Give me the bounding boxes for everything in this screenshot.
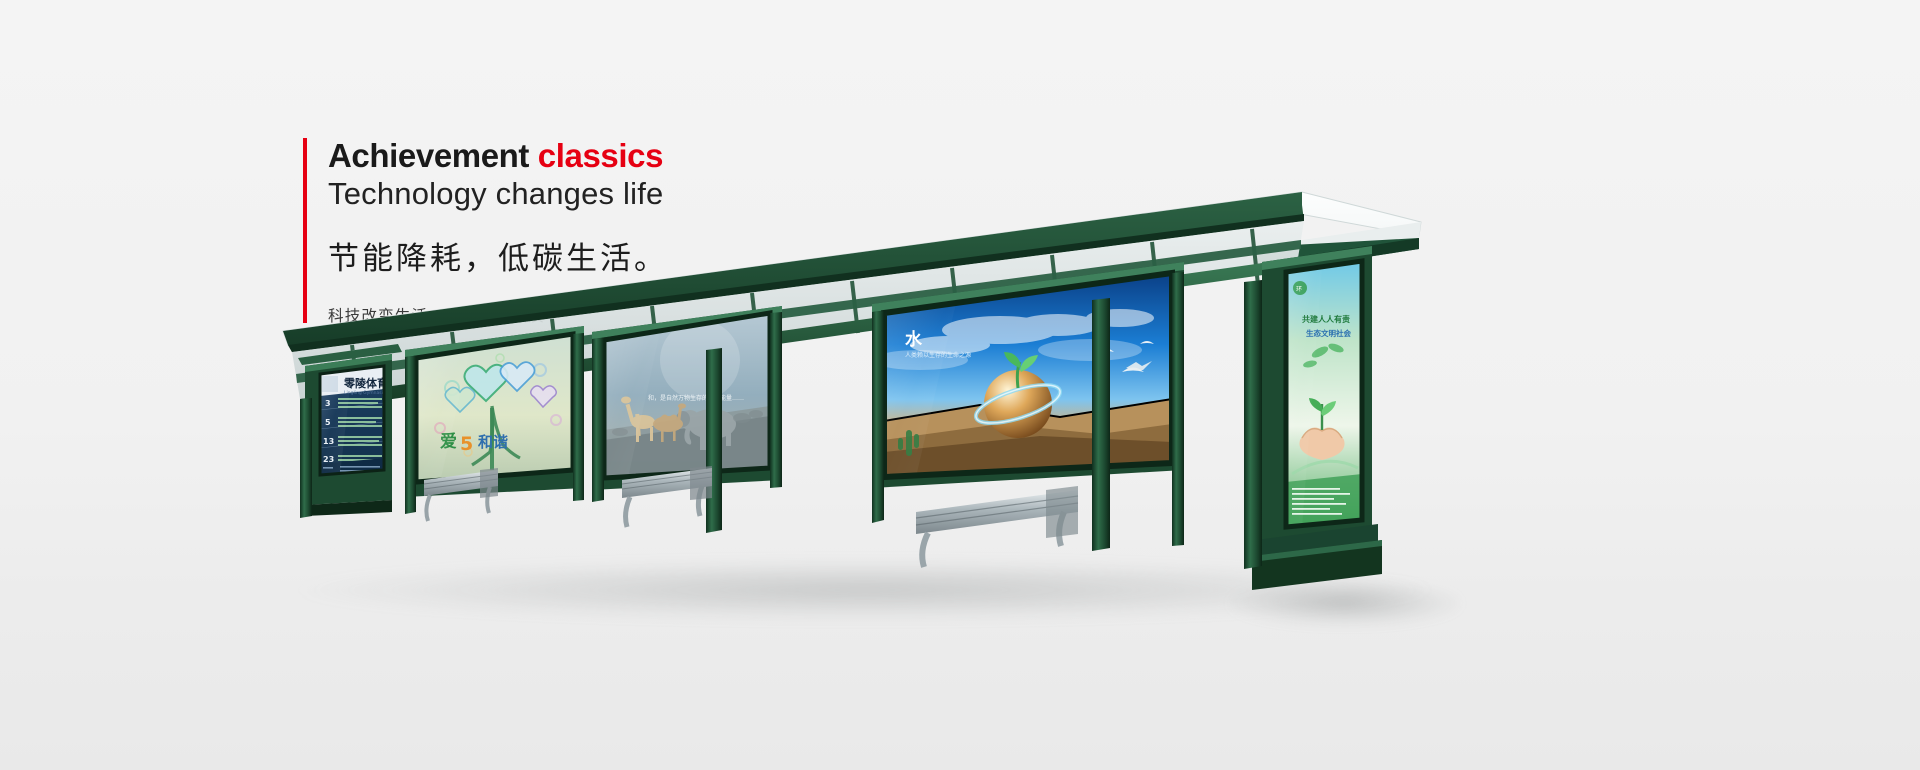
svg-text:5: 5 [460, 433, 473, 455]
panel-schedule: 零陵体育馆 Lingling Gymnasium 3 5 13 23 [298, 344, 402, 516]
svg-text:和，是自然万物生存的生命能量……: 和，是自然万物生存的生命能量…… [648, 394, 744, 402]
bus-shelter-illustration: 零陵体育馆 Lingling Gymnasium 3 5 13 23 [0, 0, 1920, 770]
svg-text:和谐: 和谐 [478, 433, 508, 451]
scene-canvas: Achievement classics Technology changes … [0, 0, 1920, 770]
panel-vertical-lightbox: 环 共建人人有责 生态文明社会 [1252, 246, 1382, 590]
bench-3 [916, 486, 1078, 567]
